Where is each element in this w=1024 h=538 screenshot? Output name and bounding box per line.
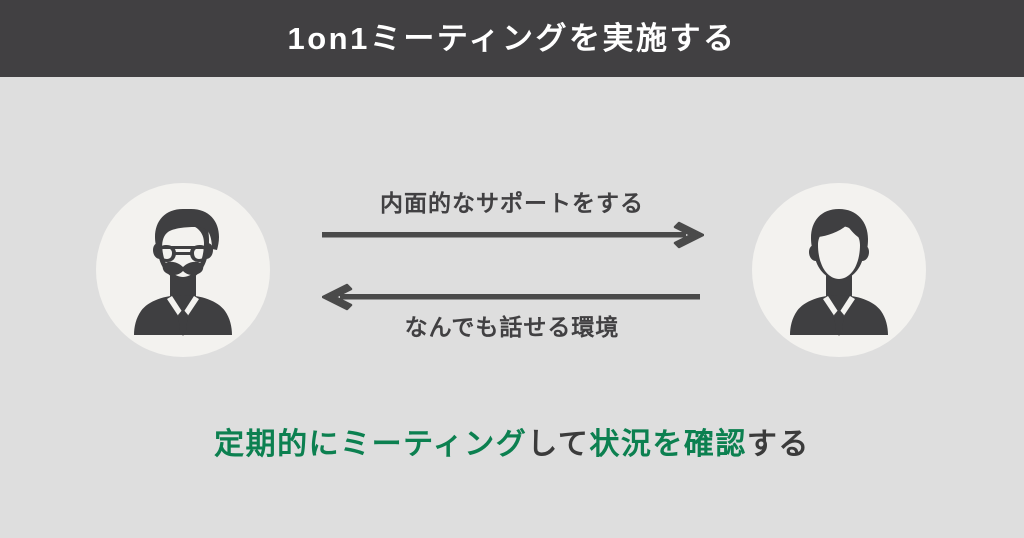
arrow-label-bottom: なんでも話せる環境 [312,316,712,339]
arrow-label-top: 内面的なサポートをする [312,192,712,215]
header-bar: 1on1ミーティングを実施する [0,0,1024,77]
arrow-left-icon [322,283,704,313]
right-avatar [752,183,926,357]
page-title: 1on1ミーティングを実施する [288,23,737,54]
caption-segment-4: する [747,428,810,461]
caption-segment-3: 状況を確認 [589,428,747,461]
caption-segment-2: して [527,428,589,461]
summary-caption: 定期的にミーティングして状況を確認する [0,430,1024,460]
slide-canvas: 1on1ミーティングを実施する [0,0,1024,538]
arrow-right-icon [322,221,704,251]
caption-segment-1: 定期的にミーティング [214,428,527,461]
left-avatar [96,183,270,357]
